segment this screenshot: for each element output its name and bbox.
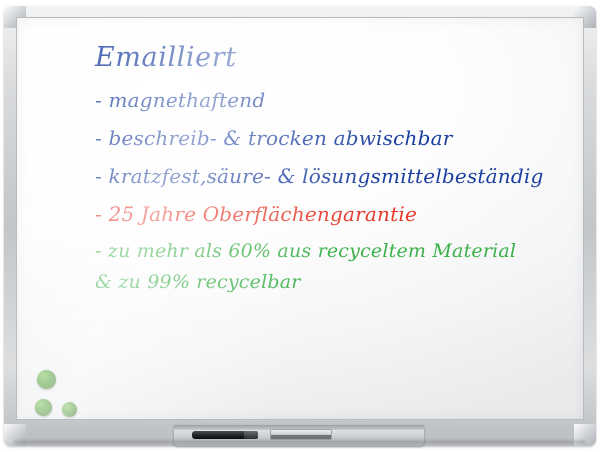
whiteboard-frame: Emailliert - magnethaftend - beschreib- … (4, 6, 596, 446)
board-line-6-recyclable: & zu 99% recycelbar (95, 271, 571, 293)
marker-pen-icon (192, 431, 250, 439)
handwritten-text-block: Emailliert - magnethaftend - beschreib- … (95, 42, 571, 293)
eraser-felt (271, 435, 331, 439)
magnet-icon (35, 399, 52, 416)
board-line-1: - magnethaftend (95, 88, 571, 112)
board-line-5-recycled: - zu mehr als 60% aus recyceltem Materia… (95, 240, 571, 262)
board-line-4-warranty: - 25 Jahre Oberflächengarantie (95, 202, 571, 226)
magnet-icon (62, 402, 77, 417)
eraser-icon (270, 429, 332, 440)
frame-shadow (14, 440, 586, 444)
whiteboard-scene: Emailliert - magnethaftend - beschreib- … (0, 0, 600, 452)
magnet-icon (37, 370, 56, 389)
whiteboard-surface: Emailliert - magnethaftend - beschreib- … (16, 17, 584, 420)
marker-cap-icon (244, 431, 258, 439)
board-line-2: - beschreib- & trocken abwischbar (95, 126, 571, 150)
board-line-3: - kratzfest,säure- & lösungsmittelbestän… (95, 164, 571, 188)
board-title: Emailliert (95, 42, 571, 73)
